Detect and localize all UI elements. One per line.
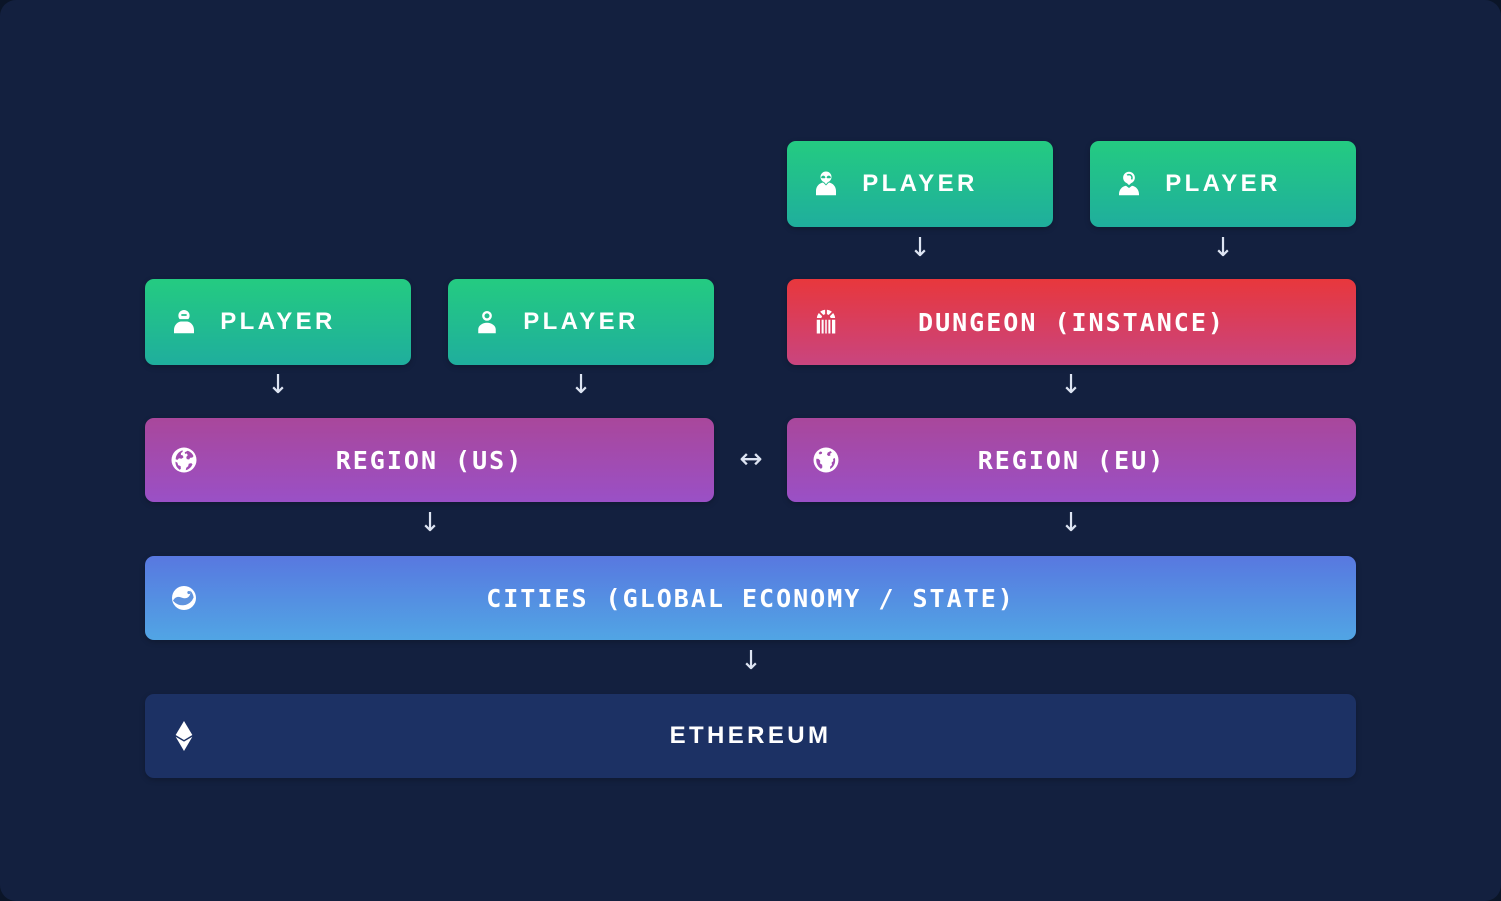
arrow-down-icon: ↓ (1057, 372, 1085, 398)
arrow-down-icon: ↓ (737, 648, 765, 674)
node-region-eu[interactable]: REGION (EU) (787, 418, 1356, 502)
node-cities[interactable]: CITIES (GLOBAL ECONOMY / STATE) (145, 556, 1356, 640)
node-label: CITIES (GLOBAL ECONOMY / STATE) (201, 584, 1334, 613)
person-player-icon (470, 305, 504, 339)
arrow-down-icon: ↓ (264, 372, 292, 398)
dungeon-gate-icon (809, 305, 843, 339)
node-label: REGION (US) (201, 446, 692, 475)
headset-player-icon (1112, 167, 1146, 201)
node-label: ETHEREUM (201, 722, 1334, 750)
node-dungeon[interactable]: DUNGEON (INSTANCE) (787, 279, 1356, 365)
node-label: DUNGEON (INSTANCE) (843, 308, 1334, 337)
helmet-player-icon (167, 305, 201, 339)
arrow-left-right-icon: ↔ (729, 445, 773, 473)
diagram-canvas: PLAYER PLAYER PLAYER PLAYER (0, 0, 1501, 901)
cities-swirl-icon (167, 581, 201, 615)
node-label: PLAYER (1146, 170, 1334, 198)
node-label: PLAYER (843, 170, 1031, 198)
arrow-down-icon: ↓ (1209, 235, 1237, 261)
arrow-down-icon: ↓ (567, 372, 595, 398)
arrow-down-icon: ↓ (1057, 510, 1085, 536)
node-player-left-2[interactable]: PLAYER (448, 279, 714, 365)
globe-europe-icon (809, 443, 843, 477)
arrow-down-icon: ↓ (416, 510, 444, 536)
node-player-left-1[interactable]: PLAYER (145, 279, 411, 365)
node-region-us[interactable]: REGION (US) (145, 418, 714, 502)
node-player-top-2[interactable]: PLAYER (1090, 141, 1356, 227)
node-ethereum[interactable]: ETHEREUM (145, 694, 1356, 778)
arrow-down-icon: ↓ (906, 235, 934, 261)
node-label: PLAYER (504, 308, 692, 336)
node-label: PLAYER (201, 308, 389, 336)
alien-player-icon (809, 167, 843, 201)
node-player-top-1[interactable]: PLAYER (787, 141, 1053, 227)
globe-americas-icon (167, 443, 201, 477)
ethereum-diamond-icon (167, 719, 201, 753)
node-label: REGION (EU) (843, 446, 1334, 475)
